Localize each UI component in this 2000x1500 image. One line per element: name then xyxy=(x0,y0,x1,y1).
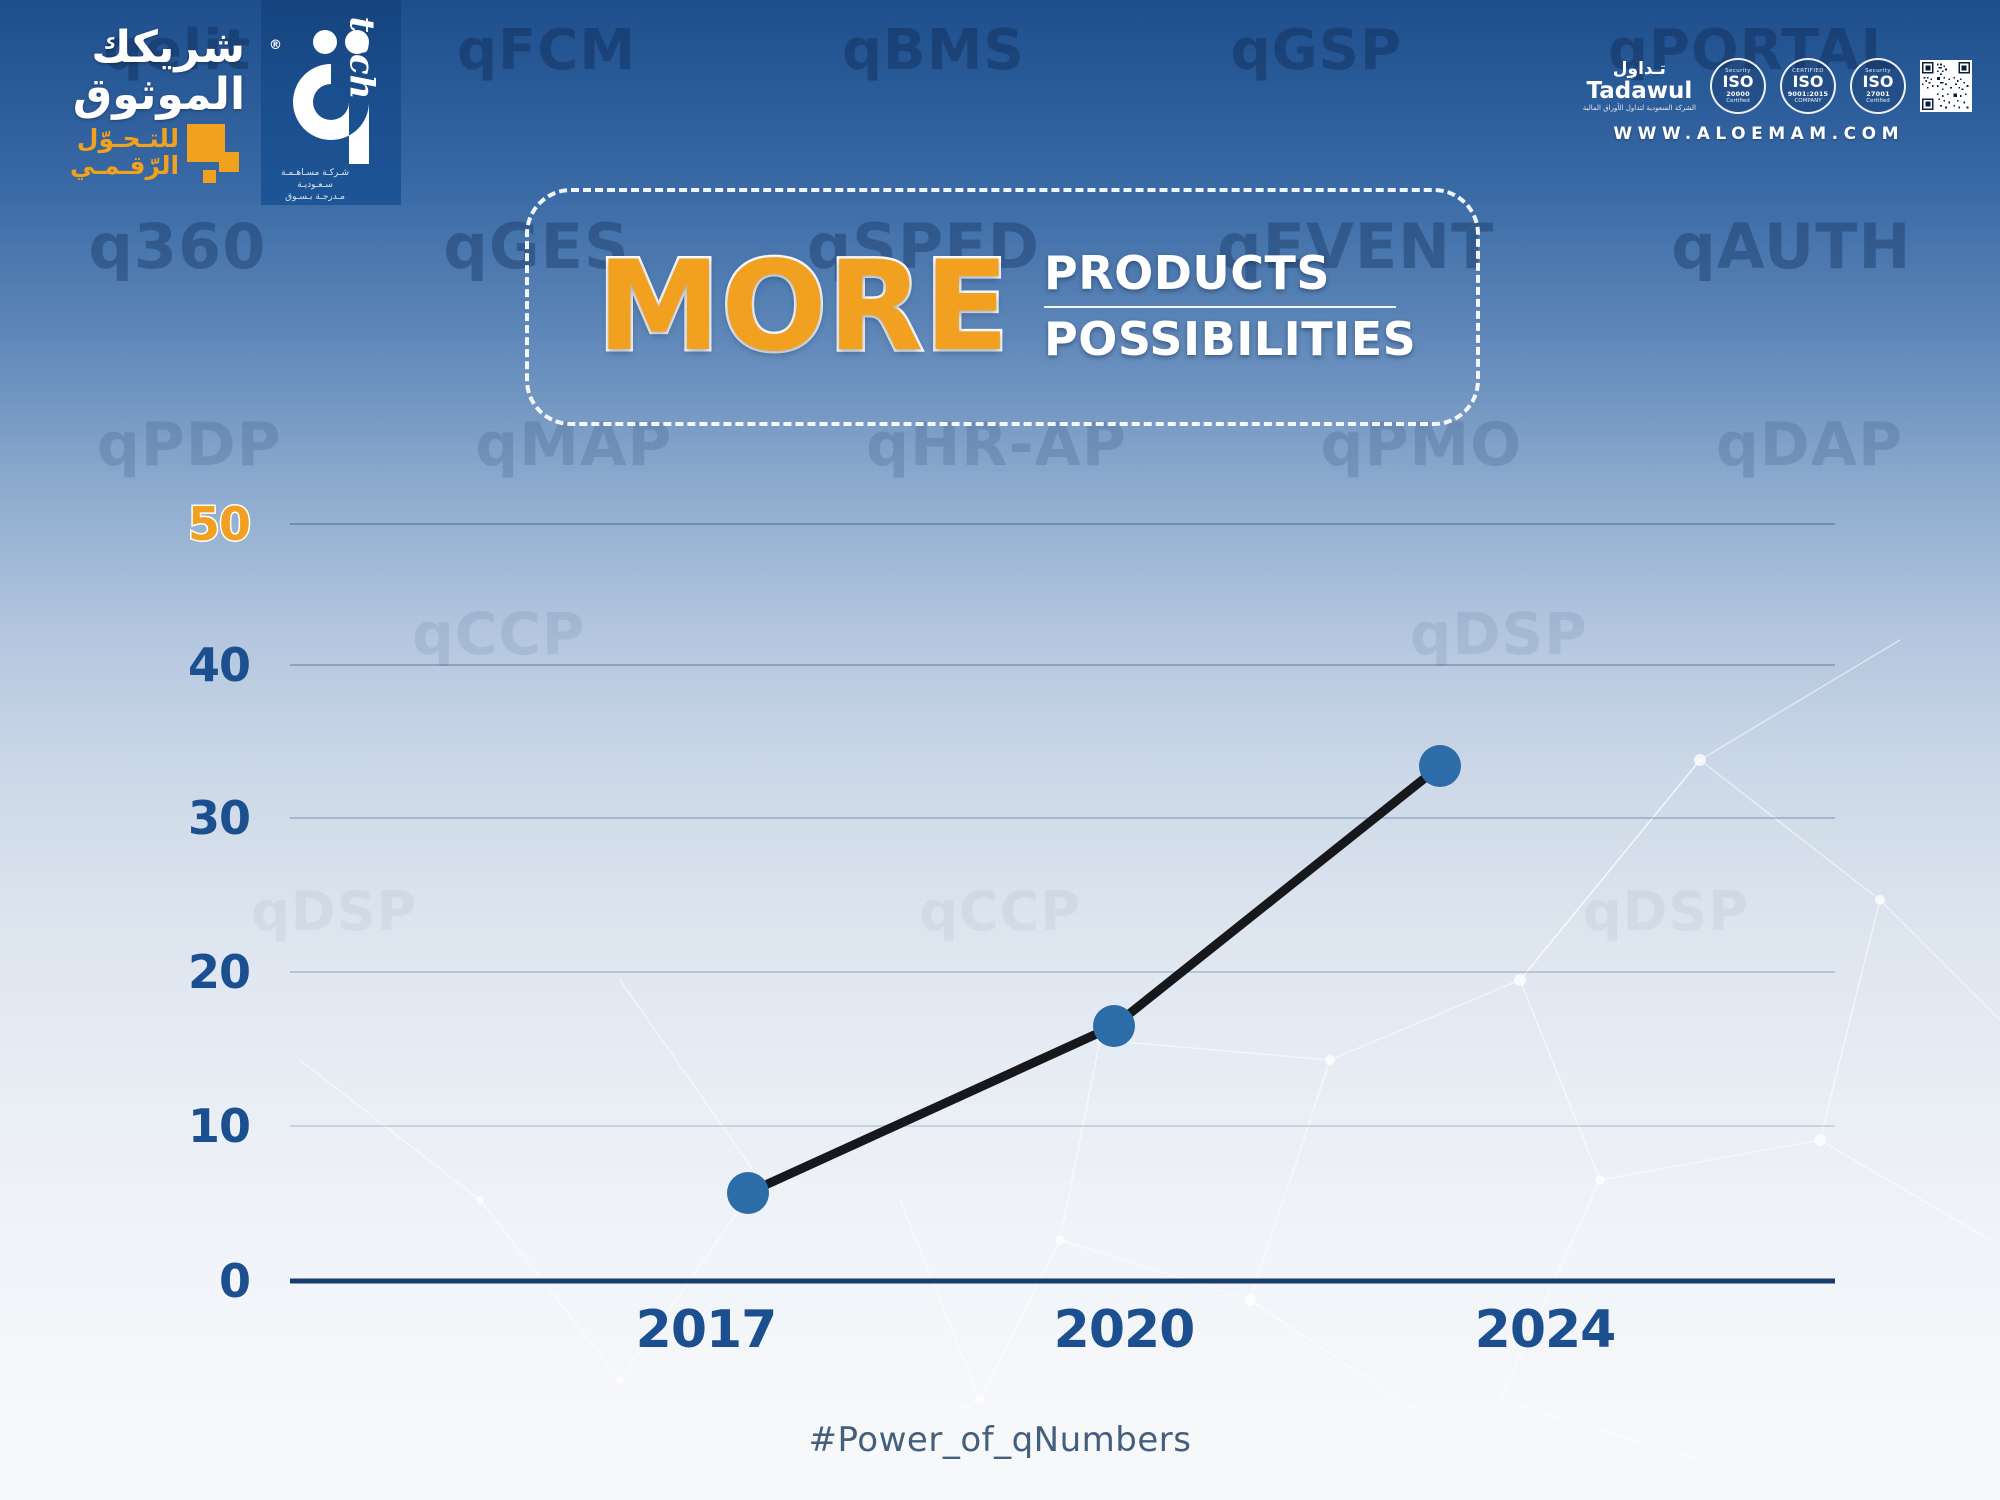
certifications-row: تـداول Tadawul الشركة السعودية لتداول ال… xyxy=(1583,58,1972,114)
watermark-logo: qCCP xyxy=(919,880,1081,943)
background-watermark-row-5: qDSP qCCP qDSP xyxy=(0,880,2000,943)
watermark-logo: qCCP xyxy=(412,600,585,668)
brand-tagline-line2: الموثوق xyxy=(70,72,245,118)
registered-trademark-icon: ® xyxy=(269,38,282,53)
watermark-logo: qAUTH xyxy=(1671,210,1911,283)
chart-data-point-2017 xyxy=(727,1172,769,1214)
brand-subtagline-line1: للتـحـوّل xyxy=(70,125,179,153)
certifications-block: تـداول Tadawul الشركة السعودية لتداول ال… xyxy=(1583,58,1972,144)
watermark-logo: qFCM xyxy=(457,18,636,83)
background-watermark-row-4: qCCP qDSP xyxy=(0,600,2000,668)
brand-tagline-arabic: شريكك الموثوق للتـحـوّل الرّقـمـي xyxy=(70,25,261,179)
iso-badge-9001: CERTIFIED ISO 9001:2015 COMPANY xyxy=(1780,58,1836,114)
headline-banner: MORE PRODUCTS POSSIBILITIES xyxy=(525,188,1480,426)
brand-subtagline: للتـحـوّل الرّقـمـي xyxy=(70,125,179,180)
footer-hashtag: #Power_of_qNumbers xyxy=(0,1420,2000,1460)
watermark-logo: qDSP xyxy=(1410,600,1588,668)
x-tick-2020: 2020 xyxy=(1054,1300,1195,1360)
tadawul-tagline: الشركة السعودية لتداول الأوراق المالية xyxy=(1583,105,1696,112)
y-tick-20: 20 xyxy=(188,945,250,999)
chart-data-point-2020 xyxy=(1093,1005,1135,1047)
tadawul-arabic: تـداول xyxy=(1583,61,1696,78)
chart-gridlines xyxy=(290,524,1835,1126)
qtech-subtitle-line1: شـركـة مسـاهـمـة سـعـوديـة xyxy=(269,167,361,191)
headline-right-column: PRODUCTS POSSIBILITIES xyxy=(1044,248,1416,365)
qtech-wordmark: tech xyxy=(342,17,382,100)
brand-subtagline-row: للتـحـوّل الرّقـمـي xyxy=(70,122,245,180)
x-tick-2017: 2017 xyxy=(636,1300,777,1360)
brand-lockup: شريكك الموثوق للتـحـوّل الرّقـمـي ® tech xyxy=(0,0,401,205)
tadawul-latin: Tadawul xyxy=(1583,80,1696,103)
x-tick-2024: 2024 xyxy=(1475,1300,1616,1360)
watermark-logo: qDSP xyxy=(251,880,417,943)
chart-data-point-2024 xyxy=(1419,745,1461,787)
watermark-logo: qDAP xyxy=(1716,410,1903,480)
chart-x-axis-labels: 2017 2020 2024 xyxy=(0,1300,2000,1380)
chart-data-line xyxy=(748,766,1440,1193)
headline-possibilities: POSSIBILITIES xyxy=(1044,314,1416,366)
chart-y-axis-labels: 50 40 30 20 10 0 xyxy=(120,0,250,1500)
watermark-logo: qBMS xyxy=(842,18,1025,83)
watermark-logo: qGSP xyxy=(1231,18,1402,83)
y-tick-10: 10 xyxy=(188,1099,250,1153)
headline-products: PRODUCTS xyxy=(1044,248,1416,300)
y-tick-30: 30 xyxy=(188,791,250,845)
qtech-subtitle: شـركـة مسـاهـمـة سـعـوديـة مـدرجـة بـسـو… xyxy=(269,167,361,203)
y-tick-40: 40 xyxy=(188,638,250,692)
tadawul-logo: تـداول Tadawul الشركة السعودية لتداول ال… xyxy=(1583,61,1696,112)
iso-badge-20000: Security ISO 20000 Certified xyxy=(1710,58,1766,114)
website-url[interactable]: WWW.ALOEMAM.COM xyxy=(1613,124,1904,144)
qr-code-icon[interactable] xyxy=(1920,60,1972,112)
brand-subtagline-line2: الرّقـمـي xyxy=(70,152,179,180)
qtech-logo-panel: ® tech شـركـة مسـاهـمـة سـعـوديـة مـدرجـ… xyxy=(261,0,401,205)
headline-divider xyxy=(1044,306,1396,308)
orange-squares-icon xyxy=(187,122,245,180)
iso-badge-27001: Security ISO 27001 Certified xyxy=(1850,58,1906,114)
qtech-subtitle-line2: مـدرجـة بـسـوق xyxy=(269,191,361,203)
headline-more: MORE xyxy=(597,245,1010,369)
poster-canvas: qelit qFCM qBMS qGSP qPORTAL q360 qGES q… xyxy=(0,0,2000,1500)
y-tick-50: 50 xyxy=(188,497,250,551)
watermark-logo: qDSP xyxy=(1583,880,1749,943)
brand-tagline-line1: شريكك xyxy=(70,25,245,71)
